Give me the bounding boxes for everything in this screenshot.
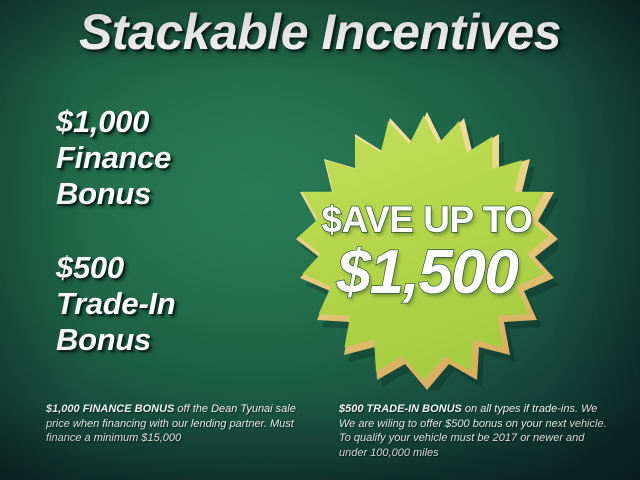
offer-name: Trade-In <box>56 286 286 322</box>
page-title: Stackable Incentives <box>0 4 640 60</box>
offer-kind: Bonus <box>56 176 286 212</box>
fineprint-trade-in: $500 TRADE-IN BONUS on all types if trad… <box>339 402 610 460</box>
fineprint-section: $1,000 FINANCE BONUS off the Dean Tyunai… <box>46 402 610 460</box>
burst-amount: $1,500 <box>296 240 558 306</box>
promo-banner: Stackable Incentives $1,000 Finance Bonu… <box>0 0 640 480</box>
fineprint-lead: $500 TRADE-IN BONUS <box>339 403 462 415</box>
offer-name: Finance <box>56 140 286 176</box>
offer-list: $1,000 Finance Bonus $500 Trade-In Bonus <box>56 104 286 358</box>
offer-item-trade-in: $500 Trade-In Bonus <box>56 250 286 358</box>
savings-starburst-badge: $AVE UP TO $1,500 <box>296 108 558 390</box>
fineprint-lead: $1,000 FINANCE BONUS <box>46 403 174 415</box>
offer-kind: Bonus <box>56 322 286 358</box>
burst-headline: $AVE UP TO <box>296 200 558 240</box>
offer-item-finance: $1,000 Finance Bonus <box>56 104 286 212</box>
offer-amount: $500 <box>56 250 286 286</box>
fineprint-finance: $1,000 FINANCE BONUS off the Dean Tyunai… <box>46 402 317 460</box>
offer-amount: $1,000 <box>56 104 286 140</box>
